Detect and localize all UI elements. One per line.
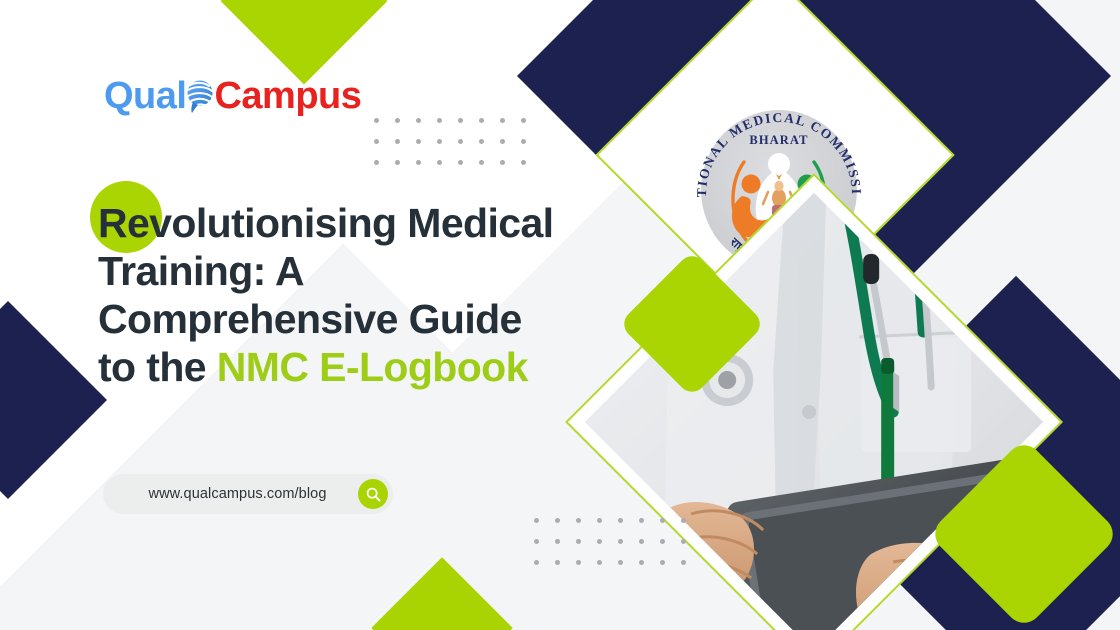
search-icon xyxy=(365,486,382,503)
search-button[interactable] xyxy=(358,479,388,509)
logo-text-qual: Qual xyxy=(104,77,186,115)
globe-icon xyxy=(182,78,216,114)
headline-line-1: Revolutionising Medical xyxy=(98,200,638,248)
headline-accent-nmc-elogbook: NMC E-Logbook xyxy=(217,344,528,390)
svg-text:BHARAT: BHARAT xyxy=(749,133,808,147)
url-pill[interactable]: www.qualcampus.com/blog xyxy=(103,474,393,514)
url-text: www.qualcampus.com/blog xyxy=(103,486,358,502)
promo-banner: NATIONAL MEDICAL COMMISSION BHARAT भारत … xyxy=(0,0,1120,630)
headline-line-2: Training: A xyxy=(98,248,638,296)
page-title: Revolutionising Medical Training: A Comp… xyxy=(98,200,638,392)
logo-text-campus: Campus xyxy=(214,77,361,115)
headline-line-3: Comprehensive Guide xyxy=(98,296,638,344)
qualcampus-logo[interactable]: Qual Campus xyxy=(104,77,361,115)
headline-line-4: to the NMC E-Logbook xyxy=(98,344,638,392)
headline-line-4-plain: to the xyxy=(98,344,217,390)
